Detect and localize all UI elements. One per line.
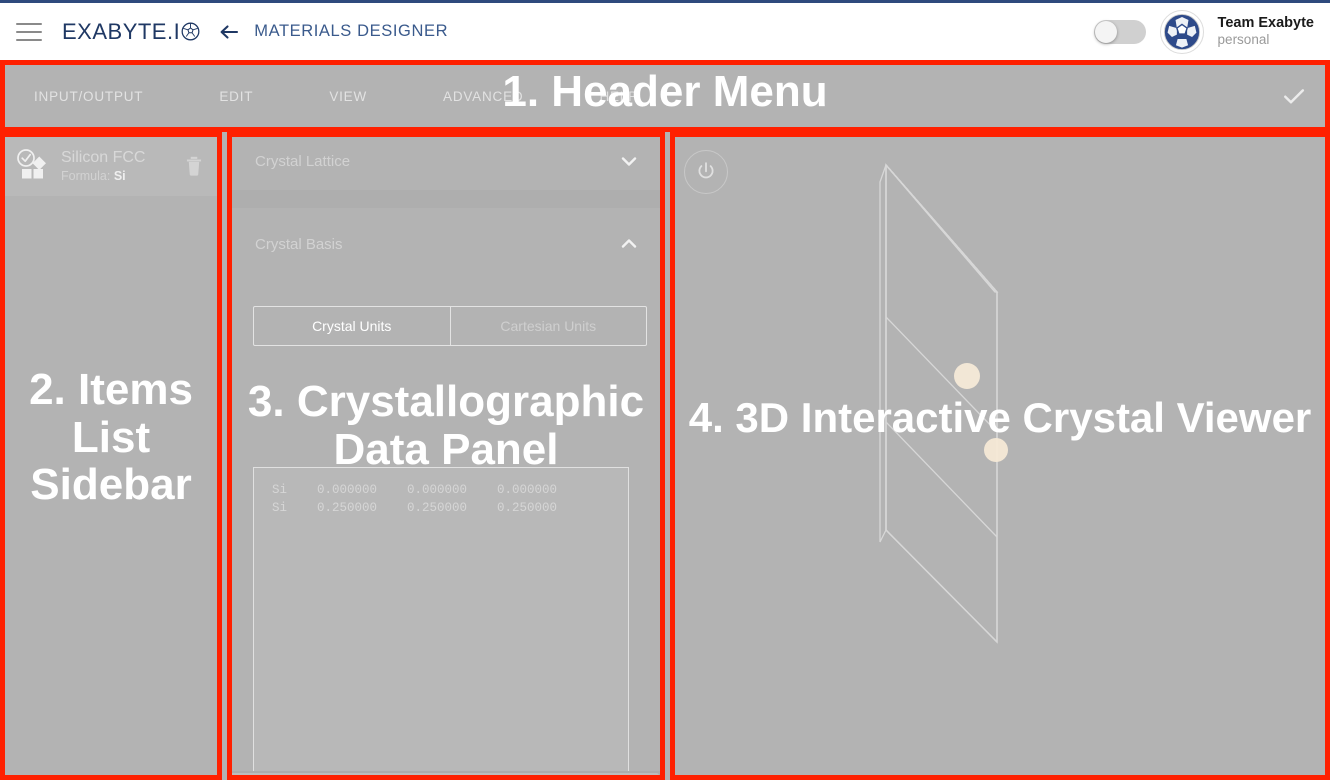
app-bar-right-group: Team Exabyte personal (1094, 10, 1314, 54)
list-item-labels: Silicon FCC Formula: Si (61, 147, 181, 185)
list-item[interactable]: Silicon FCC Formula: Si (5, 136, 217, 196)
header-menu-items: INPUT/OUTPUT EDIT VIEW ADVANCED HELP (20, 89, 652, 104)
account-subtitle: personal (1218, 32, 1314, 49)
accordion-crystal-lattice[interactable]: Crystal Lattice (227, 132, 665, 190)
accordion-divider (227, 190, 665, 208)
list-item-title: Silicon FCC (61, 147, 181, 169)
menu-item-advanced[interactable]: ADVANCED (429, 89, 537, 104)
account-info[interactable]: Team Exabyte personal (1218, 14, 1314, 49)
menu-item-view[interactable]: VIEW (315, 89, 381, 104)
accordion-crystal-basis[interactable]: Crystal Basis (227, 208, 665, 280)
brand-logo-text: EXABYTE.I (62, 19, 180, 45)
crystal-viewer-3d[interactable] (670, 132, 1330, 780)
trash-icon[interactable] (181, 153, 207, 179)
checkmark-icon[interactable] (1280, 82, 1308, 110)
items-list-sidebar: Silicon FCC Formula: Si (0, 132, 222, 780)
basis-coordinates-textarea[interactable]: Si 0.000000 0.000000 0.000000 Si 0.25000… (253, 467, 629, 780)
fullerene-icon (181, 22, 200, 41)
menu-item-edit[interactable]: EDIT (205, 89, 267, 104)
atom-sphere (954, 363, 980, 389)
hamburger-line (16, 23, 42, 25)
atom-sphere (984, 438, 1008, 462)
menu-item-help[interactable]: HELP (585, 89, 651, 104)
theme-toggle-switch[interactable] (1094, 20, 1146, 44)
list-item-formula: Formula: Si (61, 168, 181, 185)
formula-value: Si (114, 169, 126, 183)
chevron-up-icon[interactable] (617, 232, 641, 256)
page-title: MATERIALS DESIGNER (254, 22, 448, 41)
hamburger-line (16, 31, 42, 33)
crystallographic-data-panel: Crystal Lattice Crystal Basis Crystal Un… (227, 132, 665, 780)
back-arrow-icon[interactable] (216, 19, 242, 45)
hamburger-menu-icon[interactable] (16, 23, 42, 41)
chevron-down-icon[interactable] (617, 149, 641, 173)
unit-tabs: Crystal Units Cartesian Units (253, 306, 647, 346)
hamburger-line (16, 39, 42, 41)
tab-cartesian-units[interactable]: Cartesian Units (450, 307, 647, 345)
unit-cell-wireframe (670, 132, 1330, 780)
horizontal-scrollbar[interactable] (227, 771, 665, 780)
tab-crystal-units[interactable]: Crystal Units (254, 307, 450, 345)
application-bar: EXABYTE.I MATERIALS DESIGNER (0, 0, 1330, 60)
material-check-icon (15, 148, 51, 184)
menu-item-input-output[interactable]: INPUT/OUTPUT (20, 89, 157, 104)
avatar[interactable] (1160, 10, 1204, 54)
formula-label: Formula: (61, 169, 110, 183)
accordion-crystal-basis-label: Crystal Basis (255, 236, 617, 253)
brand-logo[interactable]: EXABYTE.I (62, 19, 200, 45)
account-name: Team Exabyte (1218, 14, 1314, 32)
accordion-crystal-lattice-label: Crystal Lattice (255, 153, 617, 170)
header-menu-bar: INPUT/OUTPUT EDIT VIEW ADVANCED HELP (0, 60, 1330, 132)
